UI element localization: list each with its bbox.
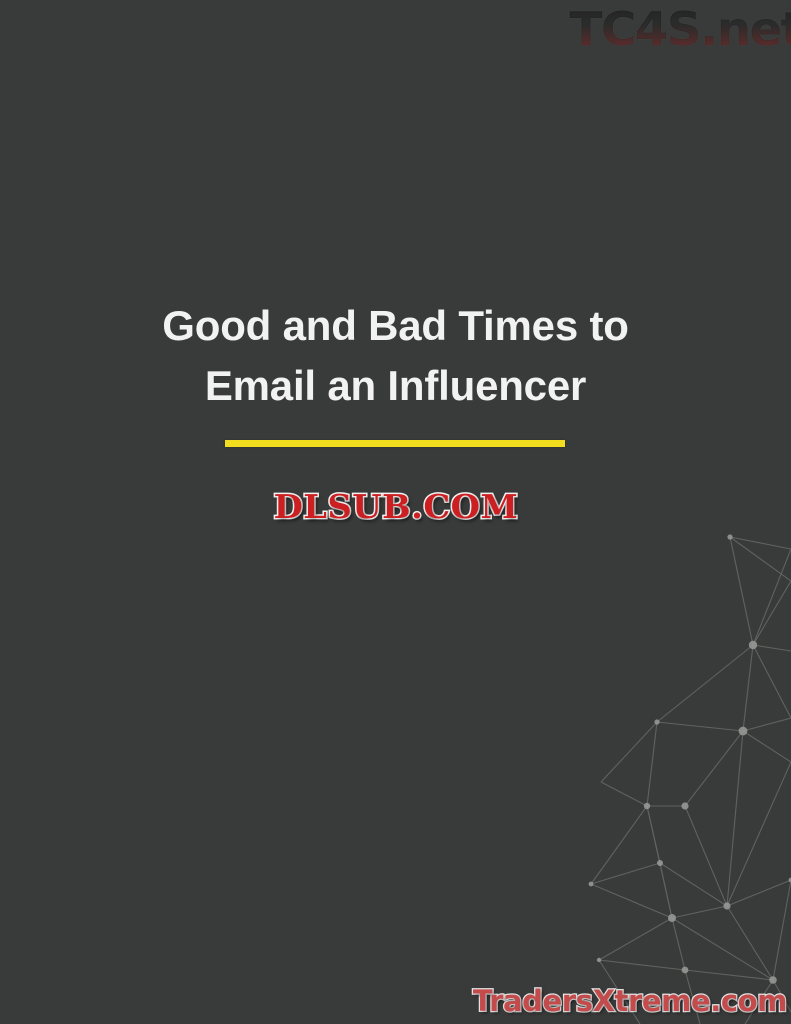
page-title-line-2: Email an Influencer	[95, 356, 696, 416]
title-divider	[225, 440, 565, 447]
page-title-line-1: Good and Bad Times to	[95, 296, 696, 356]
cover-page: Good and Bad Times to Email an Influence…	[0, 0, 791, 1024]
page-title: Good and Bad Times to Email an Influence…	[95, 296, 696, 416]
cover-content: Good and Bad Times to Email an Influence…	[0, 0, 791, 1024]
